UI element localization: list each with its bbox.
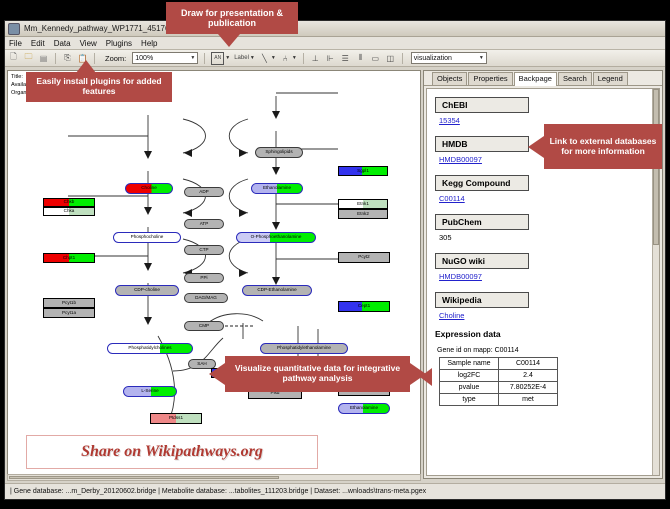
save-icon[interactable]: ▤: [38, 53, 49, 64]
cell-value: C00114: [499, 358, 558, 370]
node-phosphocholine[interactable]: Phosphocholine: [113, 232, 181, 243]
db-link-kegg-compound[interactable]: C00114: [439, 194, 651, 203]
gene-pcyt1b[interactable]: Pcyt1b: [43, 298, 95, 308]
table-row: log2FC 2.4: [440, 370, 558, 382]
copy-icon[interactable]: ⎘: [62, 53, 73, 64]
zoom-label: Zoom:: [105, 54, 126, 63]
gene-ptdss1[interactable]: Ptdss1: [150, 413, 202, 424]
callout-draw-arrow: [218, 34, 240, 47]
node-l-serine-left[interactable]: L-Serine: [123, 386, 177, 397]
gene-chka[interactable]: Chka: [43, 207, 95, 216]
node-o-phosphoethanolamine[interactable]: O-Phosphoethanolamine: [236, 232, 316, 243]
visualization-combobox[interactable]: visualization ▼: [411, 52, 487, 64]
window-titlebar: Mm_Kennedy_pathway_WP1771_45176.gpml: [5, 21, 665, 37]
distribute-vertical-icon[interactable]: ☰: [340, 53, 351, 64]
toolbar: 🗋 🗀 ▤ ⎘ 📋 Zoom: 100% ▼ AN ▼ Label ▼ ╲: [5, 50, 665, 67]
pathway-canvas[interactable]: Title: Availab Organis: [7, 70, 421, 479]
menu-item-view[interactable]: View: [80, 39, 97, 48]
share-banner: Share on Wikipathways.org: [26, 435, 318, 469]
line-dropdown[interactable]: ╲ ▼: [259, 53, 276, 64]
same-height-icon[interactable]: ◫: [385, 53, 396, 64]
node-phosphatidylethanolamine[interactable]: Phosphatidylethanolamine: [260, 343, 348, 354]
align-top-icon[interactable]: ⊥: [310, 53, 321, 64]
callout-plugins-text: Easily install plugins for added feature…: [26, 77, 172, 97]
cell-key: Sample name: [440, 358, 499, 370]
status-bar: | Gene database: ...m_Derby_20120602.bri…: [5, 483, 665, 499]
callout-draw: Draw for presentation & publication: [166, 2, 298, 34]
chevron-down-icon: ▼: [225, 55, 230, 61]
cell-key: type: [440, 394, 499, 406]
node-ethanolamine-top[interactable]: Ethanolamine: [251, 183, 303, 194]
gene-sgpl1[interactable]: Sgpl1: [338, 166, 388, 176]
cell-key: log2FC: [440, 370, 499, 382]
menu-item-file[interactable]: File: [9, 39, 22, 48]
cell-value: 7.80252E-4: [499, 382, 558, 394]
db-header-pubchem: PubChem: [435, 214, 529, 230]
node-cdp-choline[interactable]: CDP-choline: [115, 285, 179, 296]
chevron-down-icon: ▼: [479, 55, 484, 61]
callout-links-text: Link to external databases for more info…: [544, 137, 662, 157]
canvas-scroll-thumb[interactable]: [9, 476, 279, 479]
label-dropdown-text: Label: [234, 55, 249, 61]
cell-value: met: [499, 394, 558, 406]
app-icon: [8, 23, 20, 35]
share-banner-text: Share on Wikipathways.org: [81, 443, 263, 461]
expression-data-title: Expression data: [435, 329, 651, 339]
db-header-kegg-compound: Kegg Compound: [435, 175, 529, 191]
db-header-wikipedia: Wikipedia: [435, 292, 529, 308]
toolbar-separator-5: [402, 53, 403, 64]
status-bar-text: | Gene database: ...m_Derby_20120602.bri…: [10, 488, 426, 495]
zoom-value: 100%: [135, 55, 153, 62]
node-choline-top[interactable]: Choline: [125, 183, 173, 194]
db-header-chebi: ChEBI: [435, 97, 529, 113]
same-width-icon[interactable]: ▭: [370, 53, 381, 64]
table-row: pvalue 7.80252E-4: [440, 382, 558, 394]
node-ethanolamine-right[interactable]: Ethanolamine: [338, 403, 390, 414]
callout-links-arrow: [528, 136, 544, 158]
node-ctp[interactable]: CTP: [184, 245, 224, 255]
label-dropdown[interactable]: Label ▼: [234, 55, 255, 61]
callout-quantitative-text: Visualize quantitative data for integrat…: [225, 364, 410, 384]
callout-links: Link to external databases for more info…: [544, 124, 662, 169]
gene-chpt1[interactable]: Chpt1: [43, 253, 95, 263]
menu-item-help[interactable]: Help: [141, 39, 157, 48]
window-title: Mm_Kennedy_pathway_WP1771_45176.gpml: [24, 24, 189, 33]
new-icon[interactable]: 🗋: [8, 53, 19, 64]
menu-bar: File Edit Data View Plugins Help: [5, 37, 665, 50]
callout-plugins-arrow: [76, 60, 96, 73]
gene-pcyt1a[interactable]: Pcyt1a: [43, 308, 95, 318]
table-row: type met: [440, 394, 558, 406]
visualization-value: visualization: [414, 55, 452, 62]
db-link-nugo-wiki[interactable]: HMDB00097: [439, 272, 651, 281]
gene-pcyt2[interactable]: Pcyt2: [338, 252, 390, 263]
table-row: Sample name C00114: [440, 358, 558, 370]
db-header-nugo-wiki: NuGO wiki: [435, 253, 529, 269]
align-left-icon[interactable]: ⊩: [325, 53, 336, 64]
db-header-hmdb: HMDB: [435, 136, 529, 152]
node-adp[interactable]: ADP: [184, 187, 224, 197]
callout-quantitative-arrow-left: [209, 363, 225, 385]
gene-etnk2[interactable]: Etnk2: [338, 209, 388, 219]
tab-objects[interactable]: Objects: [432, 72, 467, 85]
zoom-combobox[interactable]: 100% ▼: [132, 52, 198, 64]
callout-quantitative: Visualize quantitative data for integrat…: [225, 356, 410, 392]
open-icon[interactable]: 🗀: [23, 53, 34, 64]
canvas-horizontal-scrollbar[interactable]: [7, 474, 421, 481]
node-cmp[interactable]: CMP: [184, 321, 224, 331]
distribute-horizontal-icon[interactable]: ⦀: [355, 53, 366, 64]
side-panel-tabs: Objects Properties Backpage Search Legen…: [424, 71, 662, 86]
tab-legend[interactable]: Legend: [593, 72, 628, 85]
line-icon: ╲: [259, 53, 270, 64]
node-ppi[interactable]: PPi: [184, 273, 224, 283]
chevron-down-icon: ▼: [292, 55, 297, 61]
datanode-icon: AN: [211, 52, 224, 65]
cell-key: pvalue: [440, 382, 499, 394]
menu-item-data[interactable]: Data: [54, 39, 71, 48]
gene-chkb[interactable]: Chkb: [43, 198, 95, 207]
screenshot-root: Mm_Kennedy_pathway_WP1771_45176.gpml Fil…: [0, 0, 670, 509]
tab-search[interactable]: Search: [558, 72, 592, 85]
callout-links-arrow-secondary: [420, 368, 432, 386]
gene-etnk1[interactable]: Etnk1: [338, 199, 388, 209]
interaction-icon: ⑃: [280, 53, 291, 64]
toolbar-separator-3: [204, 53, 205, 64]
cell-value: 2.4: [499, 370, 558, 382]
tab-backpage[interactable]: Backpage: [514, 72, 557, 86]
toolbar-separator-1: [55, 53, 56, 64]
db-value-pubchem: 305: [439, 233, 651, 242]
menu-item-plugins[interactable]: Plugins: [106, 39, 132, 48]
chevron-down-icon: ▼: [190, 55, 195, 61]
interaction-dropdown[interactable]: ⑃ ▼: [280, 53, 297, 64]
chevron-down-icon: ▼: [250, 55, 255, 61]
expression-data-table: Sample name C00114 log2FC 2.4 pvalue 7.8…: [439, 357, 558, 406]
node-phosphatidylcholines[interactable]: Phosphatidylcholines: [107, 343, 193, 354]
gene-id-on-mapp: Gene id on mapp: C00114: [437, 347, 651, 354]
toolbar-separator-4: [303, 53, 304, 64]
node-atp[interactable]: ATP: [184, 219, 224, 229]
tab-properties[interactable]: Properties: [468, 72, 512, 85]
gene-cept1[interactable]: Cept1: [338, 301, 390, 312]
node-sphingolipids[interactable]: Sphingolipids: [255, 147, 303, 158]
node-dag-mag[interactable]: DAG/MAG: [184, 293, 228, 303]
datanode-dropdown[interactable]: AN ▼: [211, 52, 230, 65]
callout-plugins: Easily install plugins for added feature…: [26, 72, 172, 102]
chevron-down-icon: ▼: [271, 55, 276, 61]
menu-item-edit[interactable]: Edit: [31, 39, 45, 48]
callout-draw-text: Draw for presentation & publication: [166, 8, 298, 29]
db-link-wikipedia[interactable]: Choline: [439, 311, 651, 320]
node-cdp-ethanolamine[interactable]: CDP-Ethanolamine: [242, 285, 312, 296]
